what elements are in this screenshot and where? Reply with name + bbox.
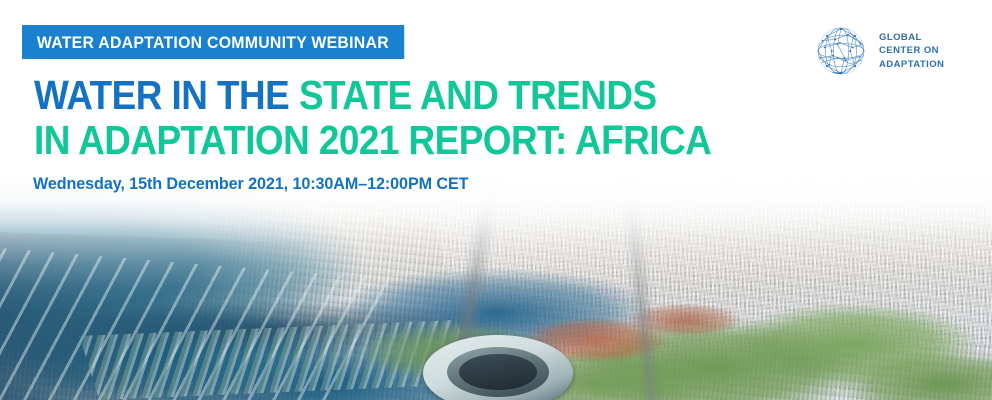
headline-line-1-green: STATE AND TRENDS [299, 72, 657, 118]
event-dateline: Wednesday, 15th December 2021, 10:30AM–1… [33, 174, 468, 194]
page-title: WATER IN THE STATE AND TRENDS IN ADAPTAT… [34, 74, 786, 164]
headline-line-1: WATER IN THE STATE AND TRENDS [34, 74, 711, 117]
banner-content: WATER ADAPTATION COMMUNITY WEBINAR WATER… [0, 0, 992, 400]
webinar-banner: WATER ADAPTATION COMMUNITY WEBINAR WATER… [0, 0, 992, 400]
logo-line-2: CENTER ON [879, 45, 939, 56]
gca-logo[interactable]: GLOBAL CENTER ON ADAPTATION [812, 22, 944, 80]
headline-line-2-green: IN ADAPTATION 2021 REPORT: AFRICA [34, 117, 711, 163]
logo-line-3: ADAPTATION [879, 59, 944, 70]
headline-line-2: IN ADAPTATION 2021 REPORT: AFRICA [34, 119, 711, 162]
headline-line-1-blue: WATER IN THE [34, 72, 299, 118]
gca-logo-text: GLOBAL CENTER ON ADAPTATION [879, 31, 944, 71]
logo-line-1: GLOBAL [879, 32, 922, 43]
globe-network-icon [812, 22, 870, 80]
webinar-kicker-badge: WATER ADAPTATION COMMUNITY WEBINAR [22, 25, 404, 59]
